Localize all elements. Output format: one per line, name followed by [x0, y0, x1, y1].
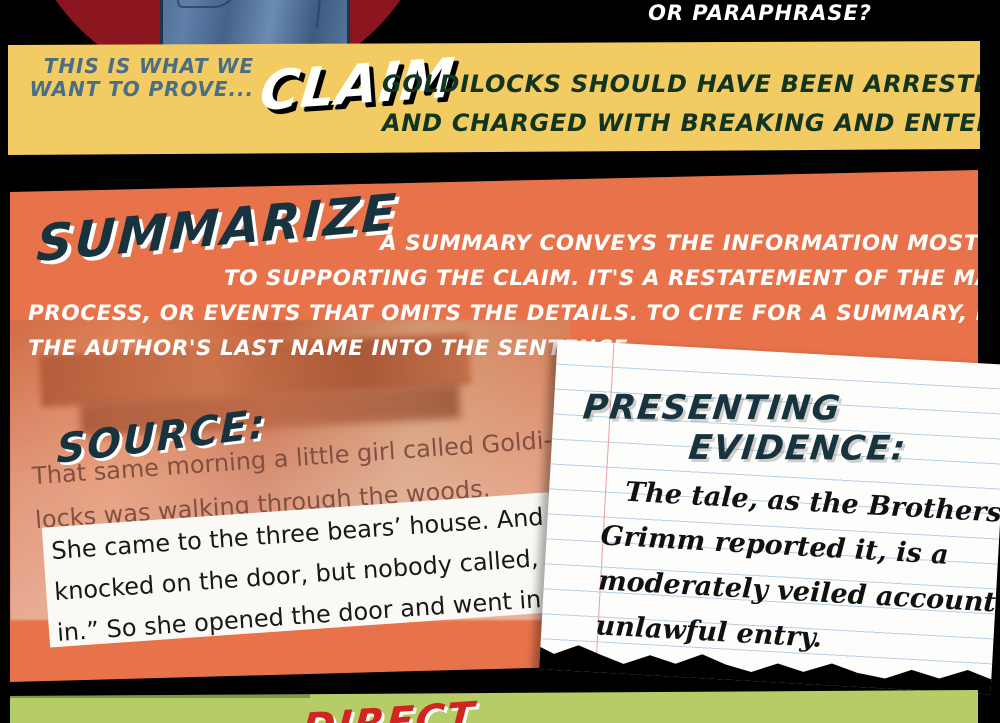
paraphrase-question-text: OR PARAPHRASE?: [600, 1, 920, 25]
claim-statement: GOLDILOCKS SHOULD HAVE BEEN ARRESTED AND…: [382, 65, 972, 143]
evidence-heading-line-1: PRESENTING: [581, 388, 843, 429]
claim-banner: THIS IS WHAT WE WANT TO PROVE... CLAIM G…: [8, 41, 980, 155]
cartoon-character-illustration: [160, 0, 350, 46]
green-band-shadow: [10, 690, 310, 698]
bottom-green-band: DIRECT: [10, 690, 978, 723]
claim-statement-line-2: AND CHARGED WITH BREAKING AND ENTERING.: [382, 104, 972, 143]
evidence-body-text: The tale, as the Brothers Grimm reported…: [594, 468, 983, 669]
summarize-line-1: A SUMMARY CONVEYS THE INFORMATION MOST R…: [28, 226, 970, 261]
top-black-strip: OR PARAPHRASE?: [0, 0, 1000, 46]
claim-statement-line-1: GOLDILOCKS SHOULD HAVE BEEN ARRESTED: [382, 65, 972, 104]
character-jeans: [160, 0, 350, 46]
summarize-line-2: TO SUPPORTING THE CLAIM. IT'S A RESTATEM…: [28, 261, 970, 296]
direct-quote-heading-partial: DIRECT: [301, 696, 477, 723]
evidence-heading: PRESENTING EVIDENCE:: [577, 388, 986, 469]
summarize-line-3: PROCESS, OR EVENTS THAT OMITS THE DETAIL…: [28, 296, 970, 331]
summarize-body-text: A SUMMARY CONVEYS THE INFORMATION MOST R…: [28, 226, 970, 366]
claim-prove-label: THIS IS WHAT WE WANT TO PROVE...: [22, 55, 254, 101]
evidence-heading-line-2: EVIDENCE:: [577, 428, 981, 469]
evidence-notepad: PRESENTING EVIDENCE: The tale, as the Br…: [539, 340, 1000, 695]
